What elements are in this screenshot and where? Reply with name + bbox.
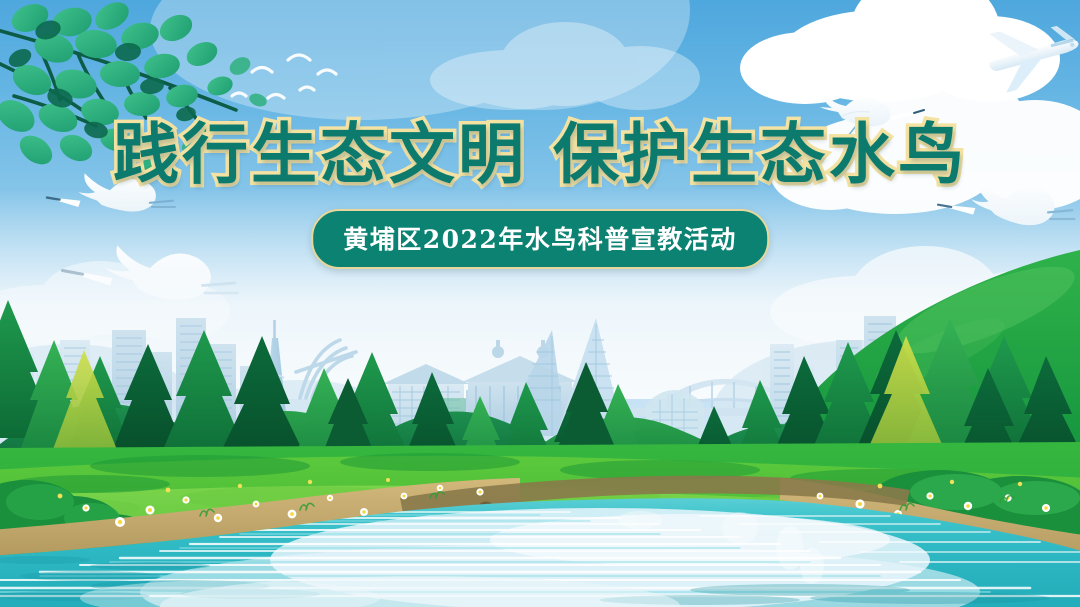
page-title: 践行生态文明 保护生态水鸟 — [113, 118, 967, 191]
subtitle-text: 黄埔区2022年水鸟科普宣教活动 — [343, 220, 737, 256]
poster-canvas: 践行生态文明 保护生态水鸟 黄埔区2022年水鸟科普宣教活动 — [0, 0, 1080, 607]
water-layer — [0, 0, 1080, 607]
title-block: 践行生态文明 保护生态水鸟 — [0, 118, 1080, 191]
subtitle-banner: 黄埔区2022年水鸟科普宣教活动 — [311, 209, 769, 269]
